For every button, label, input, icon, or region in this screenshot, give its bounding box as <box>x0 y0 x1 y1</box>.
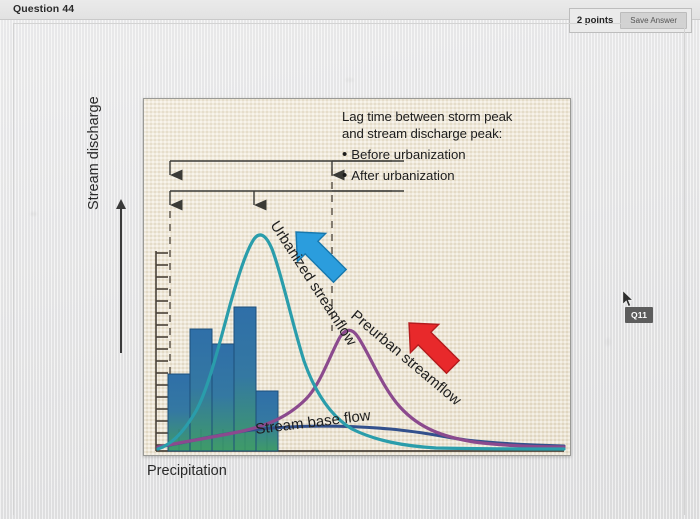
legend-bullet-icon: • <box>342 168 347 183</box>
y-axis-ticks <box>156 251 168 451</box>
x-axis-label: Precipitation <box>147 463 227 479</box>
status-badge: Q11 <box>625 307 653 323</box>
legend-bullet-icon: • <box>342 147 347 162</box>
legend-item-label: Before urbanization <box>351 146 465 163</box>
mouse-cursor-icon <box>622 290 634 308</box>
lag-bracket-after-urbanization <box>170 191 404 205</box>
legend-heading-line-2: and stream discharge peak: <box>342 125 570 142</box>
legend-heading: Lag time between storm peak and stream d… <box>342 108 570 142</box>
y-axis-label: Stream discharge <box>86 40 102 210</box>
figure-legend: Lag time between storm peak and stream d… <box>342 108 570 184</box>
page-background: Question 44 2 points Save Answer Stream … <box>0 0 700 519</box>
hydrograph-figure: Urbanized streamflow Preurban streamflow… <box>143 98 571 456</box>
y-axis-arrow-icon <box>120 208 122 353</box>
legend-heading-line-1: Lag time between storm peak <box>342 108 570 125</box>
legend-item-label: After urbanization <box>351 167 454 184</box>
legend-item-after-urbanization: • After urbanization <box>342 167 570 184</box>
legend-item-before-urbanization: • Before urbanization <box>342 146 570 163</box>
page-title: Question 44 <box>13 3 74 15</box>
